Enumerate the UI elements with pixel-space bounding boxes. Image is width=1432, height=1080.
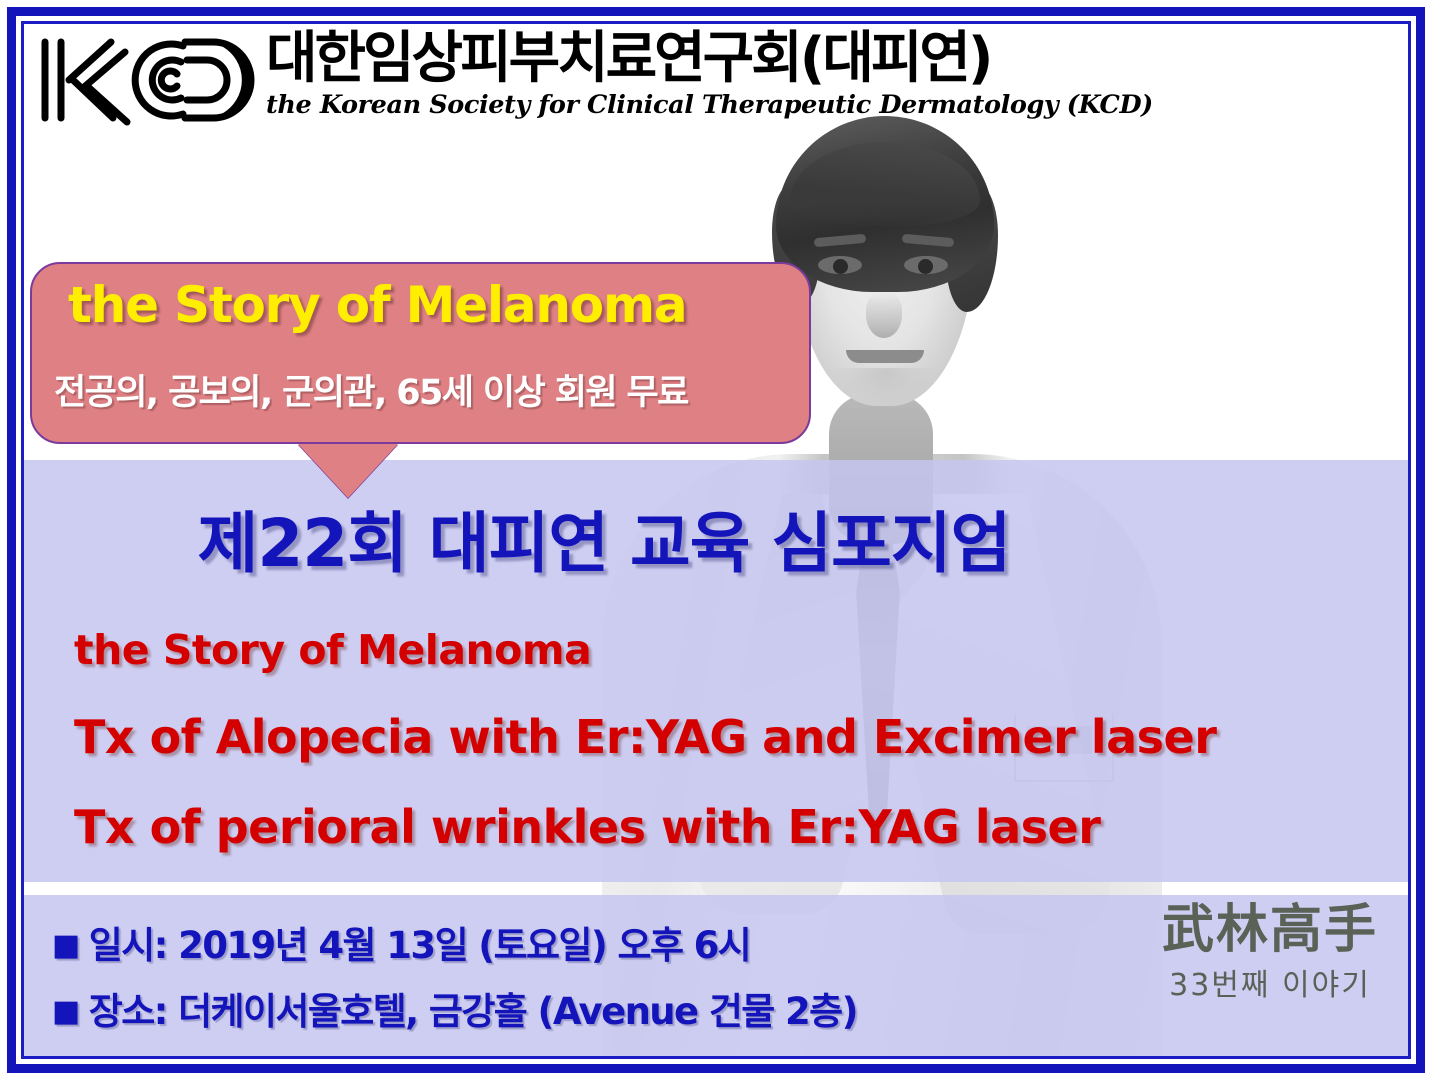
square-bullet-icon: ■ (52, 994, 79, 1029)
main-content-band: 제22회 대피연 교육 심포지엄 the Story of Melanoma T… (24, 460, 1408, 882)
lecture-title-2: Tx of Alopecia with Er:YAG and Excimer l… (74, 710, 1216, 764)
lecture-title-3: Tx of perioral wrinkles with Er:YAG lase… (74, 800, 1100, 854)
speech-bubble-tail-icon (298, 444, 398, 498)
series-branding: 武林高手 33번째 이야기 (1162, 903, 1378, 1004)
poster-header: 대한임상피부치료연구회(대피연) the Korean Society for … (24, 24, 1124, 140)
speech-bubble-body: the Story of Melanoma 전공의, 공보의, 군의관, 65세… (30, 262, 811, 444)
event-venue-text: 장소: 더케이서울호텔, 금강홀 (Avenue 건물 2층) (89, 990, 857, 1033)
kcd-logo-icon (35, 28, 263, 132)
speech-bubble-subtitle: 전공의, 공보의, 군의관, 65세 이상 회원 무료 (54, 364, 688, 415)
poster-canvas: 대한임상피부치료연구회(대피연) the Korean Society for … (24, 24, 1408, 1056)
speech-bubble-title: the Story of Melanoma (68, 276, 686, 334)
organization-name-english: the Korean Society for Clinical Therapeu… (266, 90, 1153, 120)
poster: 대한임상피부치료연구회(대피연) the Korean Society for … (0, 0, 1432, 1080)
organization-name-korean: 대한임상피부치료연구회(대피연) (266, 26, 1153, 92)
lecture-title-1: the Story of Melanoma (74, 626, 591, 674)
event-info-band: ■일시: 2019년 4월 13일 (토요일) 오후 6시 ■장소: 더케이서울… (24, 895, 1408, 1056)
highlight-speech-bubble: the Story of Melanoma 전공의, 공보의, 군의관, 65세… (30, 262, 814, 444)
series-title-hanja: 武林高手 (1162, 903, 1378, 958)
symposium-title: 제22회 대피연 교육 심포지엄 (24, 490, 1184, 586)
event-datetime-text: 일시: 2019년 4월 13일 (토요일) 오후 6시 (89, 924, 751, 967)
series-episode-label: 33번째 이야기 (1162, 960, 1378, 1004)
event-venue-line: ■장소: 더케이서울호텔, 금강홀 (Avenue 건물 2층) (52, 981, 857, 1035)
organization-names: 대한임상피부치료연구회(대피연) the Korean Society for … (266, 26, 1153, 120)
event-datetime-line: ■일시: 2019년 4월 13일 (토요일) 오후 6시 (52, 915, 750, 969)
square-bullet-icon: ■ (52, 928, 79, 963)
